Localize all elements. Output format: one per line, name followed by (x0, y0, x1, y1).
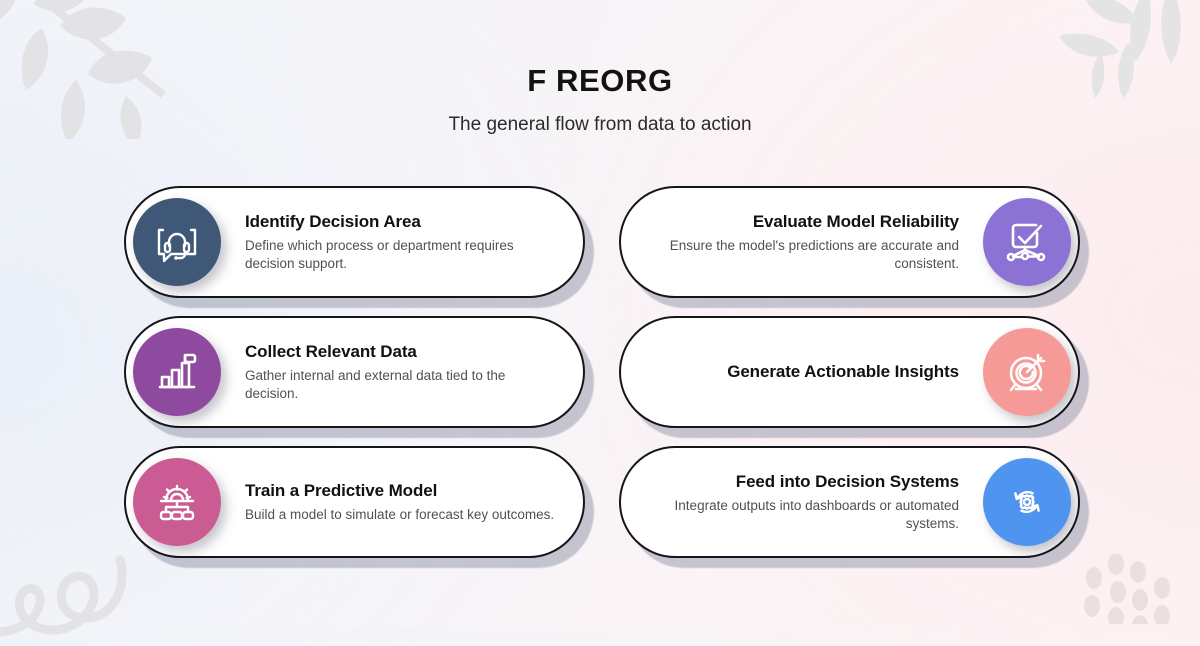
step-card-text: Collect Relevant DataGather internal and… (225, 341, 583, 403)
step-card-description: Integrate outputs into dashboards or aut… (643, 497, 959, 533)
step-card-identify-decision-area[interactable]: Identify Decision AreaDefine which proce… (124, 186, 585, 298)
step-card-title: Evaluate Model Reliability (643, 211, 959, 232)
step-card-title: Identify Decision Area (245, 211, 561, 232)
gear-hierarchy-icon (133, 458, 221, 546)
step-card-text: Identify Decision AreaDefine which proce… (225, 211, 583, 273)
step-card-description: Define which process or department requi… (245, 237, 561, 273)
page-subtitle: The general flow from data to action (0, 114, 1200, 137)
step-card-description: Build a model to simulate or forecast ke… (245, 506, 561, 524)
step-card-text: Evaluate Model ReliabilityEnsure the mod… (621, 211, 979, 273)
step-card-text: Generate Actionable Insights (621, 361, 979, 382)
step-card-title: Feed into Decision Systems (643, 471, 959, 492)
page-header: F REORG The general flow from data to ac… (0, 0, 1200, 137)
swirl-line-decoration (0, 536, 142, 646)
gear-refresh-icon (983, 458, 1071, 546)
step-card-train-a-predictive-model[interactable]: Train a Predictive ModelBuild a model to… (124, 446, 585, 558)
checkbox-network-icon (983, 198, 1071, 286)
step-card-title: Train a Predictive Model (245, 480, 561, 501)
step-card-title: Collect Relevant Data (245, 341, 561, 362)
step-card-feed-into-decision-systems[interactable]: Feed into Decision SystemsIntegrate outp… (619, 446, 1080, 558)
process-step-grid: Identify Decision AreaDefine which proce… (124, 186, 1080, 558)
step-card-text: Feed into Decision SystemsIntegrate outp… (621, 471, 979, 533)
step-card-description: Gather internal and external data tied t… (245, 367, 561, 403)
headset-chat-icon (133, 198, 221, 286)
dot-cluster-decoration (1078, 554, 1174, 624)
bar-chart-icon (133, 328, 221, 416)
step-card-title: Generate Actionable Insights (643, 361, 959, 382)
step-card-evaluate-model-reliability[interactable]: Evaluate Model ReliabilityEnsure the mod… (619, 186, 1080, 298)
page-title: F REORG (0, 64, 1200, 98)
step-card-collect-relevant-data[interactable]: Collect Relevant DataGather internal and… (124, 316, 585, 428)
step-card-text: Train a Predictive ModelBuild a model to… (225, 480, 583, 524)
target-icon (983, 328, 1071, 416)
step-card-description: Ensure the model's predictions are accur… (643, 237, 959, 273)
step-card-generate-actionable-insights[interactable]: Generate Actionable Insights (619, 316, 1080, 428)
